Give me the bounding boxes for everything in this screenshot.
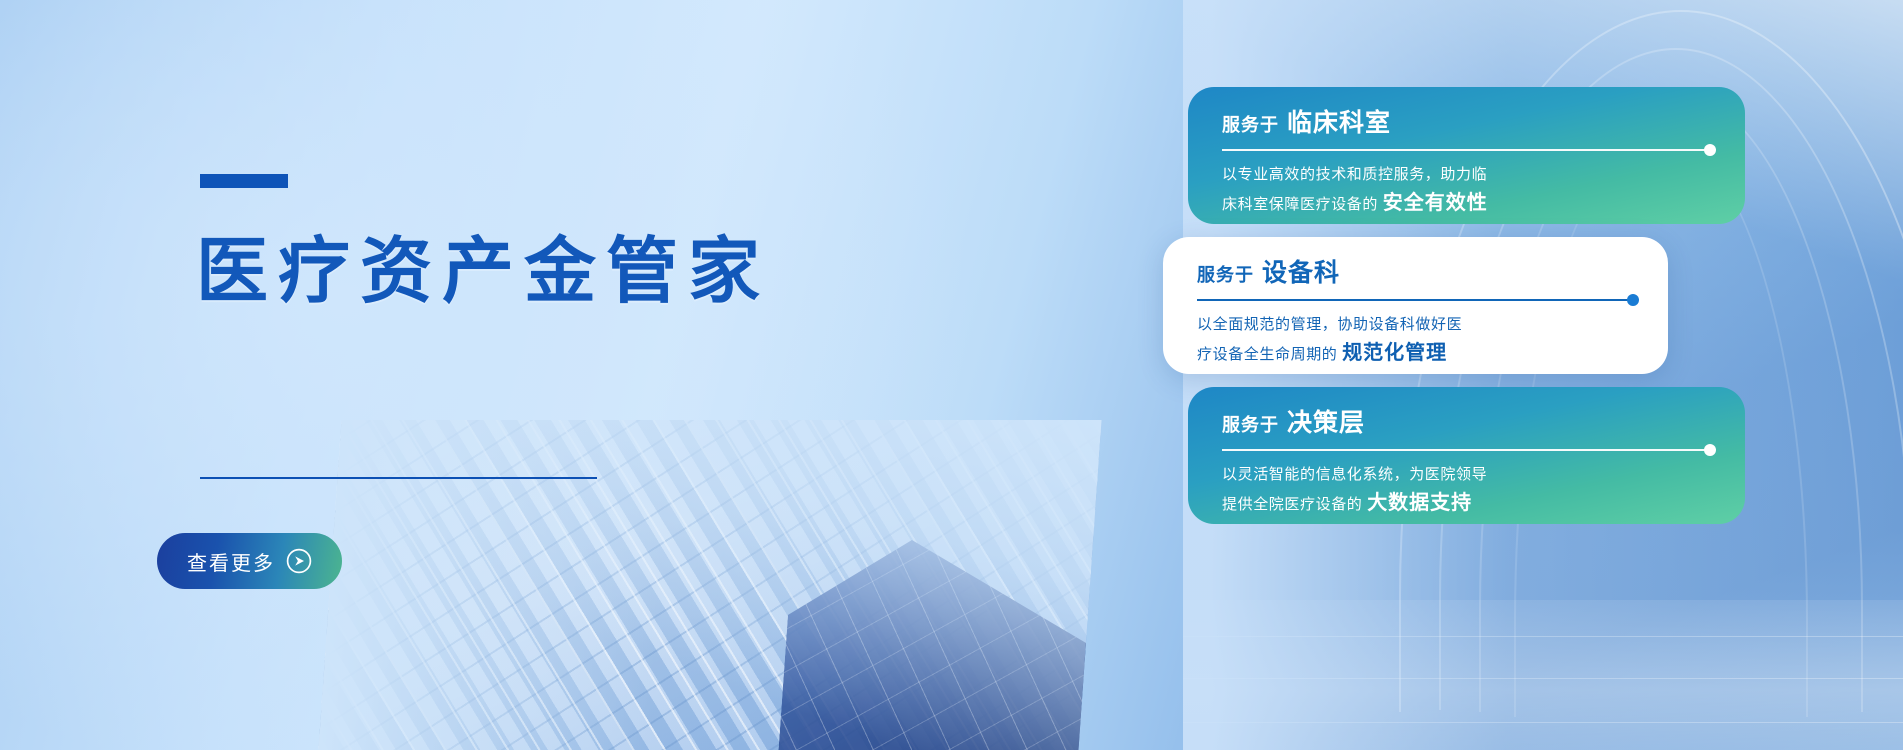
card-description: 以专业高效的技术和质控服务，助力临 床科室保障医疗设备的 安全有效性 — [1222, 163, 1711, 220]
hero-banner: 医疗资产金管家 查看更多 服务于 临床科室 以专业高效的技术和 — [0, 0, 1903, 750]
service-card-decision-makers[interactable]: 服务于 决策层 以灵活智能的信息化系统，为医院领导 提供全院医疗设备的 大数据支… — [1188, 387, 1745, 524]
card-rule — [1197, 299, 1634, 301]
card-target: 决策层 — [1287, 411, 1365, 436]
card-desc-emphasis: 规范化管理 — [1342, 342, 1447, 364]
card-rule-dot — [1627, 294, 1639, 306]
service-card-clinical[interactable]: 服务于 临床科室 以专业高效的技术和质控服务，助力临 床科室保障医疗设备的 安全… — [1188, 87, 1745, 224]
service-card-list: 服务于 临床科室 以专业高效的技术和质控服务，助力临 床科室保障医疗设备的 安全… — [0, 0, 1903, 750]
card-rule-dot — [1704, 444, 1716, 456]
card-desc-line1: 以全面规范的管理，协助设备科做好医 — [1197, 316, 1462, 333]
card-prefix: 服务于 — [1197, 266, 1254, 284]
card-prefix: 服务于 — [1222, 416, 1279, 434]
card-heading: 服务于 决策层 — [1222, 411, 1711, 436]
card-desc-line2: 提供全院医疗设备的 — [1222, 496, 1362, 513]
card-desc-line1: 以灵活智能的信息化系统，为医院领导 — [1222, 466, 1487, 483]
card-rule-line — [1222, 149, 1711, 151]
card-desc-emphasis: 安全有效性 — [1383, 192, 1488, 214]
card-rule — [1222, 149, 1711, 151]
card-desc-line2: 疗设备全生命周期的 — [1197, 346, 1337, 363]
card-target: 临床科室 — [1287, 111, 1391, 136]
card-rule-line — [1197, 299, 1634, 301]
card-description: 以全面规范的管理，协助设备科做好医 疗设备全生命周期的 规范化管理 — [1197, 313, 1634, 370]
card-desc-emphasis: 大数据支持 — [1367, 492, 1472, 514]
card-target: 设备科 — [1262, 261, 1340, 286]
card-desc-line1: 以专业高效的技术和质控服务，助力临 — [1222, 166, 1487, 183]
card-desc-line2: 床科室保障医疗设备的 — [1222, 196, 1378, 213]
card-heading: 服务于 设备科 — [1197, 261, 1634, 286]
card-prefix: 服务于 — [1222, 116, 1279, 134]
card-rule-dot — [1704, 144, 1716, 156]
card-rule — [1222, 449, 1711, 451]
card-heading: 服务于 临床科室 — [1222, 111, 1711, 136]
card-rule-line — [1222, 449, 1711, 451]
card-description: 以灵活智能的信息化系统，为医院领导 提供全院医疗设备的 大数据支持 — [1222, 463, 1711, 520]
service-card-equipment-dept[interactable]: 服务于 设备科 以全面规范的管理，协助设备科做好医 疗设备全生命周期的 规范化管… — [1163, 237, 1668, 374]
